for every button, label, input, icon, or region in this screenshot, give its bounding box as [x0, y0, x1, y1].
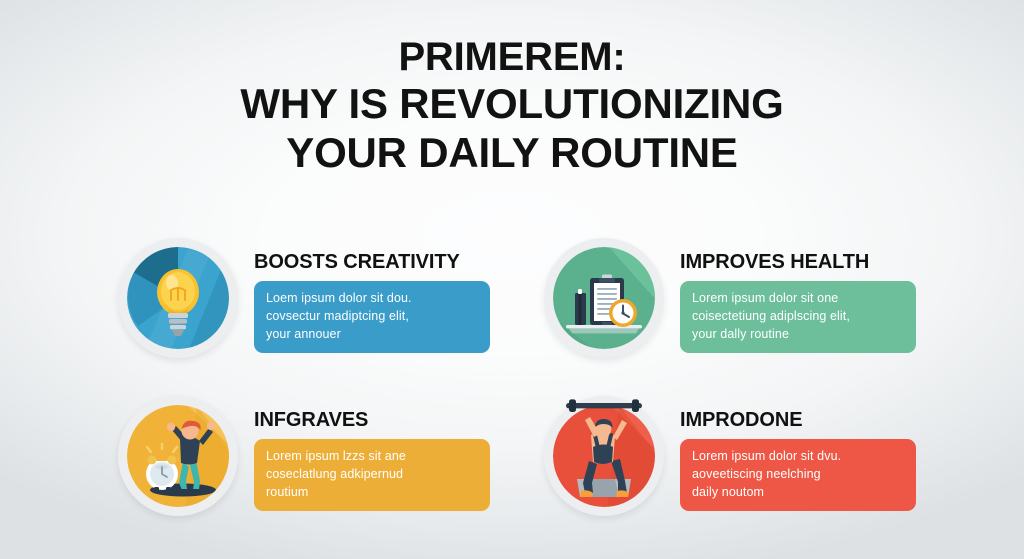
card-body: IMPROVES HEALTH Lorem ipsum dolor sit on… [664, 236, 918, 353]
page-title: PRIMEREM: WHY IS REVOLUTIONIZING YOUR DA… [0, 34, 1024, 178]
benefit-card-grid: BOOSTS CREATIVITY Loem ipsum dolor sit d… [118, 236, 918, 552]
card-body: INFGRAVES Lorem ipsum lzzs sit ane cosec… [238, 394, 492, 511]
badge-improves-health [544, 238, 664, 358]
benefit-card-boosts-creativity[interactable]: BOOSTS CREATIVITY Loem ipsum dolor sit d… [118, 236, 492, 394]
card-heading: INFGRAVES [254, 410, 492, 430]
benefit-card-improdone[interactable]: IMPRODONE Lorem ipsum dolor sit dvu. aov… [544, 394, 918, 552]
card-heading: IMPROVES HEALTH [680, 252, 918, 272]
card-body: BOOSTS CREATIVITY Loem ipsum dolor sit d… [238, 236, 492, 353]
card-heading: IMPRODONE [680, 410, 918, 430]
card-blurb: Lorem ipsum dolor sit one coisectetiung … [680, 281, 916, 353]
card-heading: BOOSTS CREATIVITY [254, 252, 492, 272]
title-line-1: PRIMEREM: [0, 34, 1024, 80]
celebrating-person-alarm-clock-icon [127, 405, 229, 507]
benefit-card-infgraves[interactable]: INFGRAVES Lorem ipsum lzzs sit ane cosec… [118, 394, 492, 552]
title-line-3: YOUR DAILY ROUTINE [0, 129, 1024, 178]
title-line-2: WHY IS REVOLUTIONIZING [0, 80, 1024, 129]
card-blurb: Loem ipsum dolor sit dou. covsectur madi… [254, 281, 490, 353]
infographic-poster: PRIMEREM: WHY IS REVOLUTIONIZING YOUR DA… [0, 0, 1024, 559]
card-blurb: Lorem ipsum lzzs sit ane coseclatlung ad… [254, 439, 490, 511]
badge-boosts-creativity [118, 238, 238, 358]
benefit-card-improves-health[interactable]: IMPROVES HEALTH Lorem ipsum dolor sit on… [544, 236, 918, 394]
weightlifter-icon [553, 405, 655, 507]
badge-improdone [544, 396, 664, 516]
card-body: IMPRODONE Lorem ipsum dolor sit dvu. aov… [664, 394, 918, 511]
clipboard-clock-icon [553, 247, 655, 349]
card-blurb: Lorem ipsum dolor sit dvu. aoveetiscing … [680, 439, 916, 511]
lightbulb-icon [127, 247, 229, 349]
badge-infgraves [118, 396, 238, 516]
